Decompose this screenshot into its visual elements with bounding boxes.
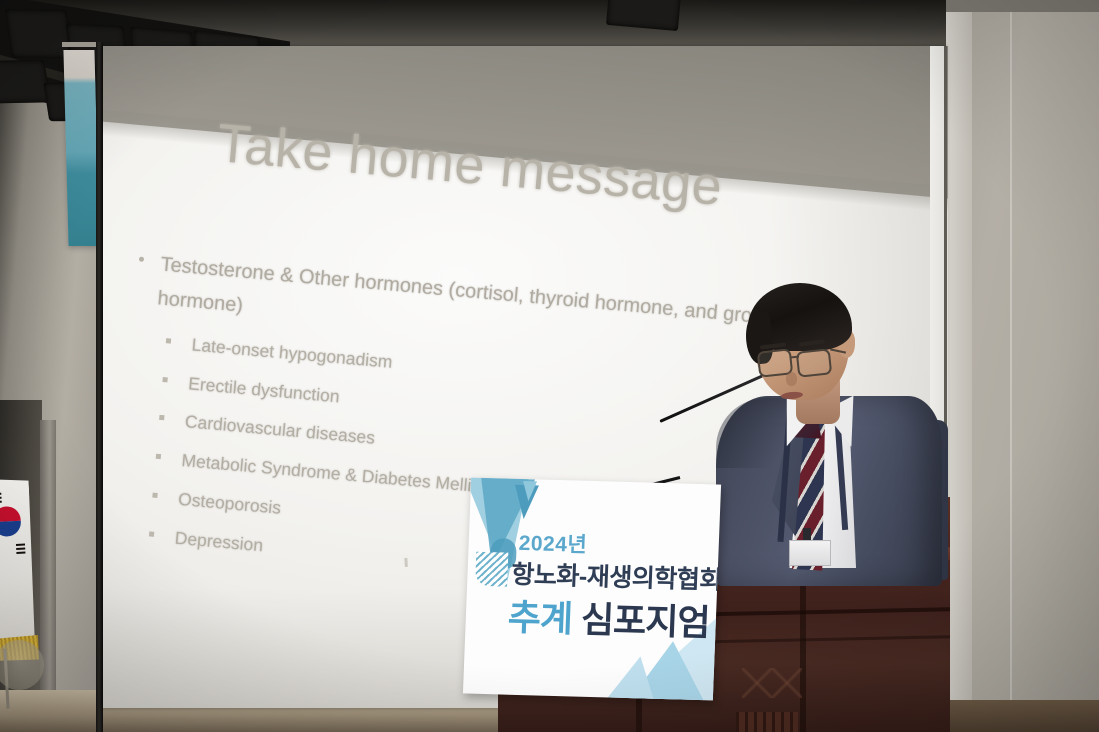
conference-photo-scene: Take home message Testosterone & Other h… (0, 0, 1099, 732)
sign-event-blue: 추계 (507, 597, 573, 640)
sign-event-title: 추계 심포지엄 (507, 589, 711, 647)
sign-year: 2024년 (518, 527, 588, 559)
sign-event-dark: 심포지엄 (571, 598, 710, 643)
sign-text-block: 2024년 항노화-재생의학협회 추계 심포지엄 (463, 478, 721, 701)
podium-sign: 2024년 항노화-재생의학협회 추계 심포지엄 (463, 478, 721, 701)
speaker-name-badge (789, 540, 831, 566)
glasses-lens-icon (796, 348, 833, 377)
speaker-nose (786, 372, 797, 386)
